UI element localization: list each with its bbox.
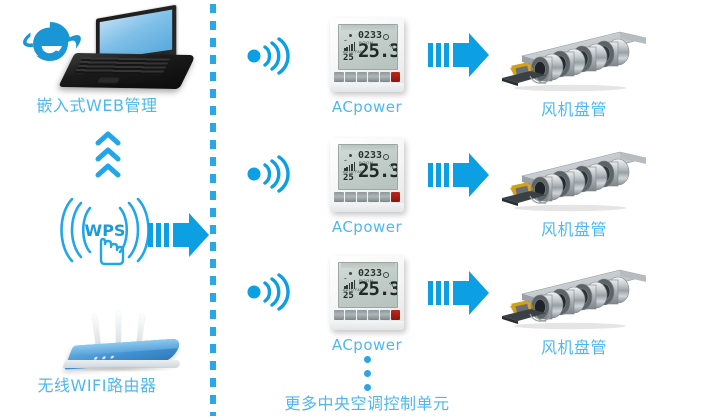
lcd-temperature-unit-2: ℃ <box>389 164 396 171</box>
router-led-2 <box>102 356 106 359</box>
fan-coil-caption-3: 风机盘管 <box>512 334 636 358</box>
lcd-setpoint-1: 25 <box>343 53 354 63</box>
lcd-indicator-left <box>349 272 352 275</box>
lcd-setpoint-3: 25 <box>343 291 354 301</box>
thermostat-button[interactable] <box>380 192 390 202</box>
router-caption: 无线WIFI路由器 <box>8 372 186 396</box>
ellipsis-dot <box>364 356 371 363</box>
thermostat-button[interactable] <box>368 310 378 320</box>
right-arrow-icon-1 <box>428 32 490 83</box>
thermostat-button[interactable] <box>334 310 344 320</box>
thermostat-button[interactable] <box>334 192 344 202</box>
internet-explorer-logo-icon <box>20 14 82 74</box>
wifi-signal-icon-3 <box>244 272 292 317</box>
thermostat-2[interactable]: 0233 ⌁ ROOM 25.3 ℃ AUTO FAN 25 <box>330 138 404 212</box>
thermostat-power-button[interactable] <box>391 72 400 82</box>
lcd-temperature-unit-1: ℃ <box>389 44 396 51</box>
wifi-router-illustration <box>48 310 188 372</box>
thermostat-button[interactable] <box>345 310 355 320</box>
lcd-temperature-unit-3: ℃ <box>389 282 396 289</box>
thermostat-bottom-bezel <box>330 203 404 212</box>
lcd-setpoint-2: 25 <box>343 173 354 183</box>
thermostat-button[interactable] <box>357 72 367 82</box>
footer-caption: 更多中央空调控制单元 <box>267 390 467 414</box>
wifi-signal-icon-2 <box>244 154 292 199</box>
lcd-indicator-left <box>349 154 352 157</box>
wifi-signal-icon-1 <box>244 36 292 81</box>
thermostat-button[interactable] <box>345 72 355 82</box>
thermostat-lcd-3: 0233 ⌁ ROOM 25.3 ℃ AUTO FAN 25 <box>338 262 398 308</box>
thermostat-3[interactable]: 0233 ⌁ ROOM 25.3 ℃ AUTO FAN 25 <box>330 256 404 330</box>
thermostat-button[interactable] <box>368 192 378 202</box>
right-arrow-icon-2 <box>428 152 490 203</box>
laptop-shadow <box>58 82 186 89</box>
fan-coil-caption-2: 风机盘管 <box>512 216 636 240</box>
ellipsis-dot <box>364 370 371 377</box>
thermostat-bottom-bezel <box>330 83 404 92</box>
thermostat-button-row-2[interactable] <box>334 192 400 202</box>
thermostat-button[interactable] <box>380 72 390 82</box>
thermostat-button[interactable] <box>380 310 390 320</box>
fan-coil-unit-3 <box>500 264 648 335</box>
thermostat-button-row-3[interactable] <box>334 310 400 320</box>
thermostat-bottom-bezel <box>330 321 404 330</box>
fan-coil-unit-2 <box>500 146 648 217</box>
fan-coil-caption-1: 风机盘管 <box>512 96 636 120</box>
thermostat-caption-1: ACpower <box>305 98 429 116</box>
right-arrow-icon-wps <box>148 212 210 258</box>
router-led-3 <box>110 356 114 359</box>
dashed-vertical-divider <box>210 4 216 416</box>
thermostat-button[interactable] <box>357 310 367 320</box>
wps-label: WPS <box>85 221 126 240</box>
diagram-canvas: DELL 嵌入式WEB管理 <box>0 0 708 419</box>
thermostat-1[interactable]: 0233 ⌁ ROOM 25.3 ℃ AUTO FAN 25 <box>330 18 404 92</box>
thermostat-lcd-2: 0233 ⌁ ROOM 25.3 ℃ AUTO FAN 25 <box>338 144 398 190</box>
fan-coil-unit-1 <box>500 26 648 97</box>
thermostat-lcd-1: 0233 ⌁ ROOM 25.3 ℃ AUTO FAN 25 <box>338 24 398 70</box>
thermostat-button[interactable] <box>345 192 355 202</box>
thermostat-button[interactable] <box>357 192 367 202</box>
laptop-screen-display <box>100 10 172 61</box>
thermostat-caption-2: ACpower <box>305 218 429 236</box>
laptop-keyboard <box>75 57 170 75</box>
thermostat-power-button[interactable] <box>391 192 400 202</box>
thermostat-power-button[interactable] <box>391 310 400 320</box>
router-top-surface <box>69 338 182 355</box>
thermostat-button[interactable] <box>368 72 378 82</box>
right-arrow-icon-3 <box>428 270 490 321</box>
chevron-up-icon <box>86 130 130 186</box>
lcd-indicator-left <box>349 34 352 37</box>
thermostat-caption-3: ACpower <box>305 336 429 354</box>
thermostat-button[interactable] <box>334 72 344 82</box>
thermostat-button-row-1[interactable] <box>334 72 400 82</box>
laptop-caption: 嵌入式WEB管理 <box>8 92 186 116</box>
